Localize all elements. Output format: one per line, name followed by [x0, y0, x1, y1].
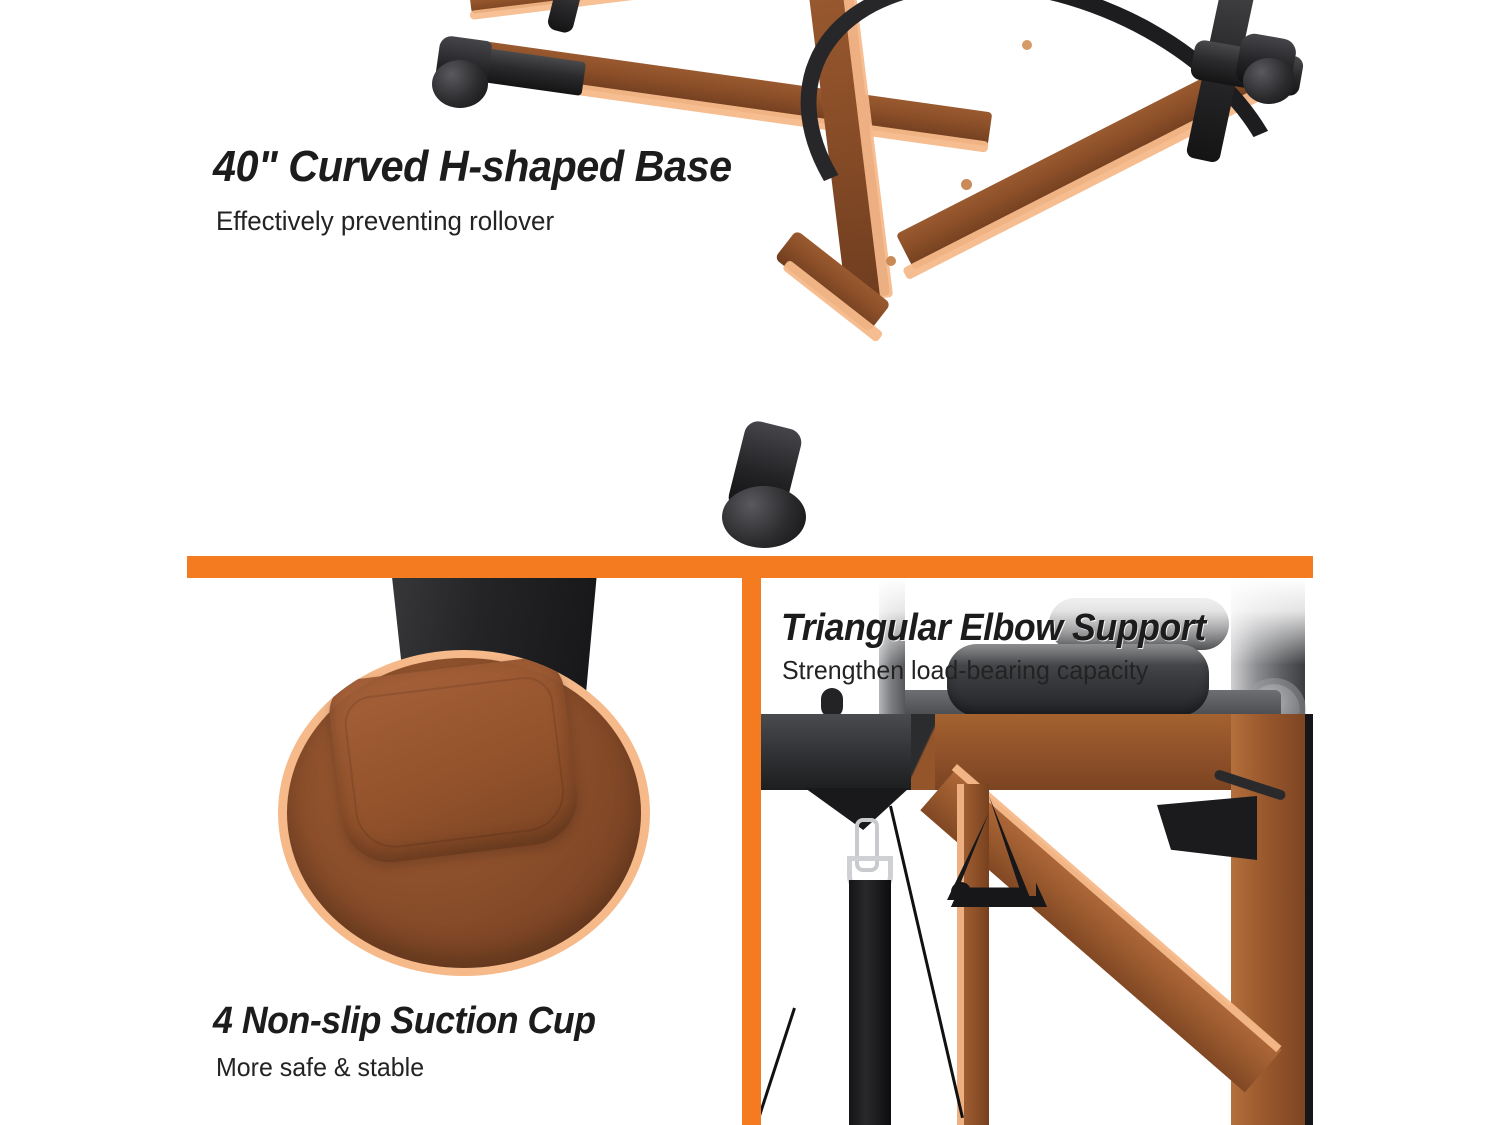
cable-wire-1 [889, 806, 964, 1118]
elbow-right-upright-edge [1305, 714, 1313, 1125]
base-bottom-roller [722, 486, 806, 548]
nylon-strap [849, 880, 891, 1125]
base-left-upright-stub [546, 0, 584, 34]
vertical-orange-rule [742, 578, 761, 1125]
crossbar-split-seam [911, 714, 935, 790]
curved-h-base-photo [0, 0, 1500, 556]
suction-cup-photo [0, 578, 742, 978]
horizontal-orange-rule [187, 556, 1313, 578]
cable-wire-2 [761, 1008, 796, 1125]
bottom-right-panel-title: Triangular Elbow Support [781, 607, 1206, 650]
base-bolt-2 [886, 256, 896, 266]
elbow-rear-black-bracket [1157, 796, 1257, 860]
base-left-roller [432, 60, 488, 108]
triangle-handle-grip [951, 882, 971, 902]
base-bolt-1 [961, 179, 972, 190]
suction-cup-magnifier-circle [278, 650, 650, 976]
triangular-gusset-left-peach [957, 784, 964, 1125]
top-panel-title: 40" Curved H-shaped Base [213, 142, 732, 192]
top-panel-subtitle: Effectively preventing rollover [216, 206, 554, 237]
base-right-roller [1243, 58, 1295, 104]
bottom-left-panel-title: 4 Non-slip Suction Cup [213, 1000, 596, 1043]
crossbar-black-half [761, 714, 923, 790]
bottom-left-panel-subtitle: More safe & stable [216, 1052, 424, 1083]
base-bolt-3 [1022, 40, 1032, 50]
infographic-canvas: 40" Curved H-shaped Base Effectively pre… [0, 0, 1500, 1125]
bottom-right-panel-subtitle: Strengthen load-bearing capacity [782, 655, 1148, 686]
suction-cup-rim-shadow [287, 658, 641, 968]
